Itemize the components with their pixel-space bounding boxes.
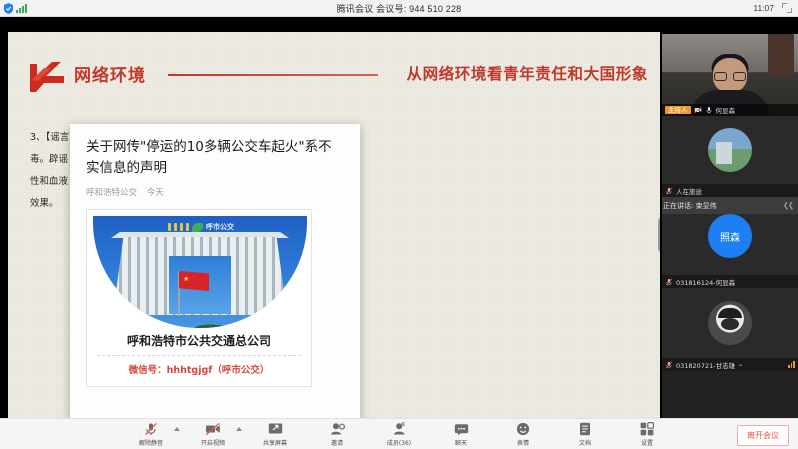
shared-screen-slide[interactable]: 网络环境 从网络环境看青年责任和大国形象 3、【谣言】 能抑制新冠病 毒。辟谣 …	[8, 32, 660, 430]
toolbar-emoji-button[interactable]: 表情	[500, 422, 546, 447]
slide-heading: 网络环境	[74, 61, 146, 86]
flag-star-icon: ★	[183, 275, 189, 283]
leaf-icon	[192, 223, 203, 232]
toolbar-item-label: 开启视频	[201, 438, 225, 447]
rooftop-logo: 呼市公交	[137, 221, 265, 233]
participant-tile-host[interactable]: 主持人 何显森	[662, 34, 798, 116]
title-bar: 腾讯会议 会议号: 944 510 228 11:07	[0, 0, 798, 17]
chevron-down-icon[interactable]: ⌄	[738, 361, 743, 368]
figure-divider	[97, 355, 301, 356]
wechat-id-label: 微信号：hhhtgjgf（呼市公交）	[87, 362, 311, 376]
participant-namebar: 031820721-甘志雄 ⌄	[662, 358, 798, 371]
mic-muted-icon	[144, 422, 158, 437]
participant-namebar: 主持人 何显森	[662, 104, 798, 116]
toolbar-share-screen-button[interactable]: 共享屏幕	[252, 422, 298, 447]
signal-icon	[788, 361, 795, 368]
article-account: 呼和浩特公交	[86, 188, 137, 198]
chevron-up-icon[interactable]	[174, 427, 180, 431]
chat-icon	[454, 422, 469, 437]
settings-grid-icon	[640, 422, 654, 437]
wechat-article-card[interactable]: 关于网传"停运的10多辆公交车起火"系不实信息的声明 呼和浩特公交 今天 呼市公…	[70, 124, 360, 424]
speaking-tooltip-text: 正在讲话: 束显伟	[663, 201, 717, 211]
slide-header: 网络环境 从网络环境看青年责任和大国形象	[8, 54, 660, 102]
article-date: 今天	[147, 188, 164, 198]
toolbar-mute-button[interactable]: 解除静音	[128, 422, 174, 447]
invite-user-icon	[330, 422, 345, 437]
participant-name: 人在旅途	[676, 186, 702, 196]
video-off-icon	[694, 106, 702, 114]
participant-name: 何显森	[716, 105, 736, 115]
video-off-icon	[205, 422, 221, 437]
avatar: 照森	[708, 214, 752, 258]
mic-muted-icon	[665, 361, 673, 369]
participant-rail[interactable]: 主持人 何显森	[662, 34, 798, 435]
participant-tile-photo[interactable]	[662, 116, 798, 184]
title-bar-right: 11:07	[753, 3, 794, 13]
toolbar-members-button[interactable]: 成员(36)	[376, 422, 422, 447]
mic-muted-icon	[665, 278, 673, 286]
toolbar-item-label: 聊天	[455, 438, 467, 447]
participant-name: 031820721-甘志雄	[676, 360, 735, 370]
signal-icon	[16, 3, 27, 13]
article-title: 关于网传"停运的10多辆公交车起火"系不实信息的声明	[70, 124, 360, 179]
toolbar-items: 解除静音 开启视频	[128, 422, 670, 447]
window-title: 腾讯会议 会议号: 944 510 228	[0, 2, 798, 15]
shield-icon	[4, 3, 13, 14]
rooftop-logo-text: 呼市公交	[206, 222, 234, 232]
meeting-stage: 网络环境 从网络环境看青年责任和大国形象 3、【谣言】 能抑制新冠病 毒。辟谣 …	[0, 17, 798, 418]
toolbar-document-button[interactable]: 文档	[562, 422, 608, 447]
toolbar-item-label: 设置	[641, 438, 653, 447]
mic-muted-icon	[665, 187, 673, 195]
figure-caption: 呼和浩特市公共交通总公司	[87, 332, 311, 349]
tencent-meeting-window: 腾讯会议 会议号: 944 510 228 11:07 网络环境 从网络环境看青…	[0, 0, 798, 449]
clock-label: 11:07	[753, 3, 774, 13]
article-meta: 呼和浩特公交 今天	[70, 179, 360, 198]
participant-tile-blue[interactable]: 正在讲话: 束显伟 照森	[662, 197, 798, 275]
toolbar-settings-button[interactable]: 设置	[624, 422, 670, 447]
speaking-tooltip: 正在讲话: 束显伟	[662, 197, 798, 214]
leave-meeting-button[interactable]: 离开会议	[737, 425, 789, 446]
chevron-up-icon[interactable]	[236, 427, 242, 431]
toolbar-item-label: 邀请	[331, 438, 343, 447]
collapse-panel-chevron-right-icon[interactable]: ›	[658, 218, 660, 252]
participant-tile-panda[interactable]	[662, 288, 798, 358]
participant-namebar: 031816124-何显森	[662, 275, 798, 288]
participant-name: 031816124-何显森	[676, 277, 735, 287]
audio-wave-icon	[784, 202, 793, 210]
glasses-icon	[714, 72, 746, 81]
meeting-toolbar: 解除静音 开启视频	[0, 418, 798, 449]
company-building-photo: 呼市公交 ★	[93, 216, 307, 328]
toolbar-chat-button[interactable]: 聊天	[438, 422, 484, 447]
expand-icon[interactable]	[782, 3, 792, 13]
emoji-icon	[516, 422, 530, 437]
participant-namebar: 人在旅途	[662, 184, 798, 197]
avatar	[708, 128, 752, 172]
toolbar-item-label: 成员(36)	[387, 438, 411, 447]
toolbar-invite-button[interactable]: 邀请	[314, 422, 360, 447]
webcam-door	[768, 34, 794, 76]
host-badge: 主持人	[665, 106, 691, 115]
article-figure: 呼市公交 ★ 呼和浩特市公共交通总公司 微信号：hhhtgjgf（呼市公交）	[86, 209, 312, 387]
avatar	[708, 301, 752, 345]
toolbar-item-label: 解除静音	[139, 438, 163, 447]
avatar-initials: 照森	[720, 229, 740, 244]
share-screen-icon	[268, 422, 283, 437]
logo-dots-icon	[168, 223, 189, 231]
slide-subtitle: 从网络环境看青年责任和大国形象	[406, 62, 648, 84]
title-bar-left-icons	[4, 3, 27, 14]
mic-icon	[705, 106, 713, 114]
toolbar-item-label: 共享屏幕	[263, 438, 287, 447]
toolbar-item-label: 表情	[517, 438, 529, 447]
toolbar-video-button[interactable]: 开启视频	[190, 422, 236, 447]
party-emblem-icon	[24, 58, 70, 98]
title-rule	[168, 74, 378, 76]
members-icon	[392, 422, 407, 437]
tree-line	[93, 302, 307, 328]
toolbar-item-label: 文档	[579, 438, 591, 447]
document-icon	[579, 422, 591, 437]
